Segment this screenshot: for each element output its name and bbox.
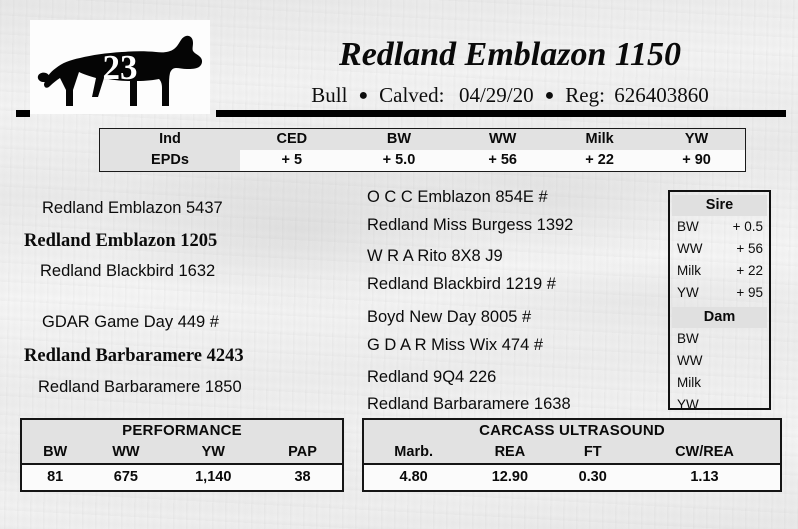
carcass-table-title: CARCASS ULTRASOUND: [364, 420, 780, 441]
carc-value-rea: 12.90: [463, 464, 556, 490]
pedigree-grandsire-sire-side: Redland Emblazon 5437: [42, 200, 223, 217]
sire-row-milk: Milk + 22: [670, 260, 769, 282]
dam-row-ww-label: WW: [677, 350, 702, 372]
pedigree-ggs-4: Redland 9Q4 226: [367, 369, 496, 386]
pedigree-ggd-1: Redland Miss Burgess 1392: [367, 217, 573, 234]
carc-value-marb: 4.80: [364, 464, 463, 490]
pedigree-ggs-3: Boyd New Day 8005 #: [367, 309, 531, 326]
performance-header-row: BW WW YW PAP: [22, 441, 342, 464]
perf-value-bw: 81: [22, 464, 88, 490]
sire-row-yw-label: YW: [677, 282, 699, 304]
sire-row-bw: BW + 0.5: [670, 216, 769, 238]
pedigree-ggs-2: W R A Rito 8X8 J9: [367, 248, 503, 265]
epd-table: Ind CED BW WW Milk YW EPDs + 5 + 5.0 + 5…: [99, 128, 746, 172]
carcass-header-row: Marb. REA FT CW/REA: [364, 441, 780, 464]
catalog-page: 23 Redland Emblazon 1150 Bull●Calved: 04…: [0, 0, 798, 529]
sire-box-header: Sire: [672, 195, 767, 216]
carcass-ultrasound-table: CARCASS ULTRASOUND Marb. REA FT CW/REA 4…: [362, 418, 782, 492]
perf-col-pap: PAP: [263, 441, 342, 464]
sire-row-yw-value: + 95: [736, 282, 763, 304]
dam-row-yw-label: YW: [677, 394, 699, 416]
epd-col-yw: YW: [648, 129, 745, 150]
pedigree-sire: Redland Emblazon 1205: [24, 232, 217, 251]
header-rule-left: [16, 110, 30, 117]
pedigree-grandsire-dam-side: GDAR Game Day 449 #: [42, 314, 219, 331]
perf-value-yw: 1,140: [163, 464, 263, 490]
sire-row-yw: YW + 95: [670, 282, 769, 304]
perf-col-bw: BW: [22, 441, 88, 464]
pedigree-ggd-2: Redland Blackbird 1219 #: [367, 276, 556, 293]
calved-label: Calved:: [377, 83, 446, 107]
epd-row-label-header: Ind: [100, 129, 240, 150]
epd-col-ww: WW: [454, 129, 551, 150]
carc-col-marb: Marb.: [364, 441, 463, 464]
dam-row-ww: WW: [670, 350, 769, 372]
epd-value-milk: + 22: [551, 150, 648, 171]
epd-value-bw: + 5.0: [344, 150, 455, 171]
sire-row-milk-value: + 22: [736, 260, 763, 282]
carc-col-ft: FT: [556, 441, 628, 464]
pedigree-dam: Redland Barbaramere 4243: [24, 347, 244, 366]
sire-row-ww-value: + 56: [736, 238, 763, 260]
sire-row-milk-label: Milk: [677, 260, 701, 282]
epd-col-milk: Milk: [551, 129, 648, 150]
reg-number: 626403860: [612, 83, 711, 107]
carc-value-cwrea: 1.13: [629, 464, 780, 490]
sire-row-ww: WW + 56: [670, 238, 769, 260]
epd-values-row: EPDs + 5 + 5.0 + 56 + 22 + 90: [100, 150, 745, 171]
pedigree-granddam-dam-side: Redland Barbaramere 1850: [38, 379, 242, 396]
dam-row-bw: BW: [670, 328, 769, 350]
epd-value-ww: + 56: [454, 150, 551, 171]
epd-value-ced: + 5: [240, 150, 344, 171]
epd-col-ced: CED: [240, 129, 344, 150]
calved-date: 04/29/20: [457, 83, 536, 107]
page-title: Redland Emblazon 1150: [250, 38, 770, 72]
dam-row-milk-label: Milk: [677, 372, 701, 394]
header-rule-right: [216, 110, 786, 117]
page-header: 23 Redland Emblazon 1150 Bull●Calved: 04…: [0, 0, 798, 120]
carc-col-cwrea: CW/REA: [629, 441, 780, 464]
dam-row-yw: YW: [670, 394, 769, 416]
epd-col-bw: BW: [344, 129, 455, 150]
carc-value-ft: 0.30: [556, 464, 628, 490]
animal-sex: Bull: [309, 83, 349, 107]
epd-row-label-values: EPDs: [100, 150, 240, 171]
performance-table-title: PERFORMANCE: [22, 420, 342, 441]
separator-dot-1: ●: [349, 87, 377, 104]
epd-value-yw: + 90: [648, 150, 745, 171]
lot-logo-box: 23: [30, 20, 210, 114]
animal-meta-line: Bull●Calved: 04/29/20●Reg: 626403860: [230, 85, 790, 106]
separator-dot-2: ●: [536, 87, 564, 104]
pedigree-ggd-4: Redland Barbaramere 1638: [367, 396, 571, 413]
perf-col-ww: WW: [88, 441, 163, 464]
carcass-data-row: 4.80 12.90 0.30 1.13: [364, 464, 780, 490]
perf-value-pap: 38: [263, 464, 342, 490]
dam-row-bw-label: BW: [677, 328, 699, 350]
sire-dam-epd-box: Sire BW + 0.5 WW + 56 Milk + 22 YW + 95 …: [668, 190, 771, 410]
pedigree-ggd-3: G D A R Miss Wix 474 #: [367, 337, 543, 354]
dam-row-milk: Milk: [670, 372, 769, 394]
lot-number: 23: [30, 50, 210, 85]
pedigree-granddam-sire-side: Redland Blackbird 1632: [40, 263, 215, 280]
perf-col-yw: YW: [163, 441, 263, 464]
performance-data-row: 81 675 1,140 38: [22, 464, 342, 490]
sire-row-bw-value: + 0.5: [733, 216, 763, 238]
perf-value-ww: 675: [88, 464, 163, 490]
epd-header-row: Ind CED BW WW Milk YW: [100, 129, 745, 150]
reg-label: Reg:: [563, 83, 607, 107]
performance-table: PERFORMANCE BW WW YW PAP 81 675 1,140 38: [20, 418, 344, 492]
sire-row-ww-label: WW: [677, 238, 702, 260]
dam-box-header: Dam: [672, 307, 767, 328]
pedigree-ggs-1: O C C Emblazon 854E #: [367, 189, 548, 206]
carc-col-rea: REA: [463, 441, 556, 464]
sire-row-bw-label: BW: [677, 216, 699, 238]
